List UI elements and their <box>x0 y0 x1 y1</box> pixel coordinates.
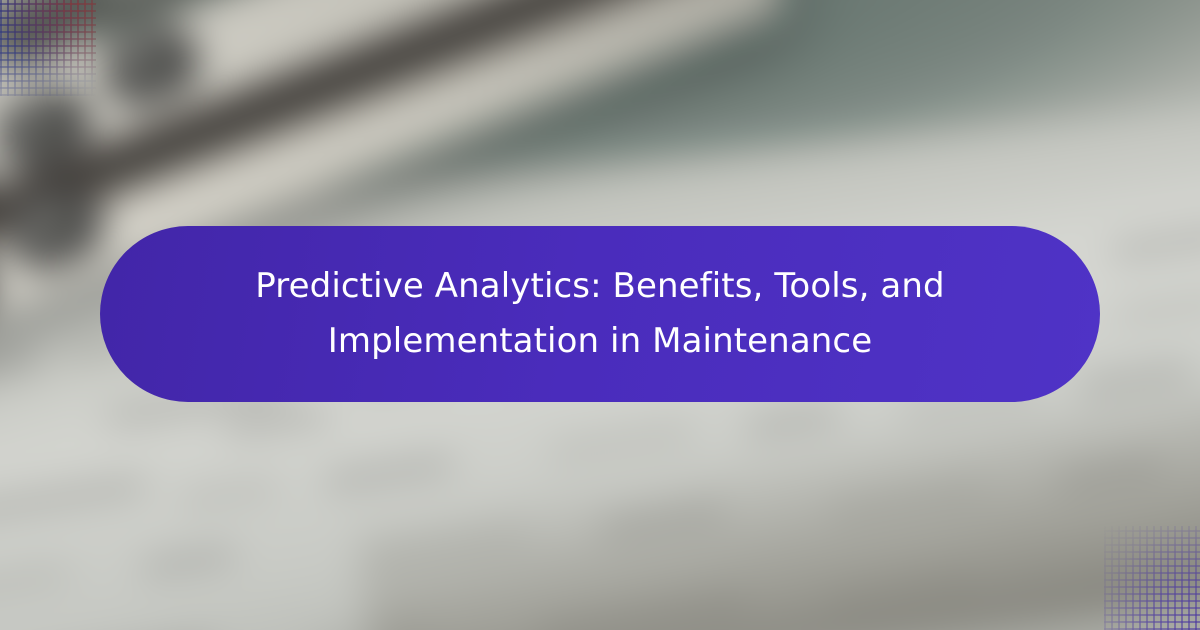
share-card: Predictive Analytics: Benefits, Tools, a… <box>0 0 1200 630</box>
title-banner: Predictive Analytics: Benefits, Tools, a… <box>100 226 1100 402</box>
page-title: Predictive Analytics: Benefits, Tools, a… <box>250 259 950 369</box>
